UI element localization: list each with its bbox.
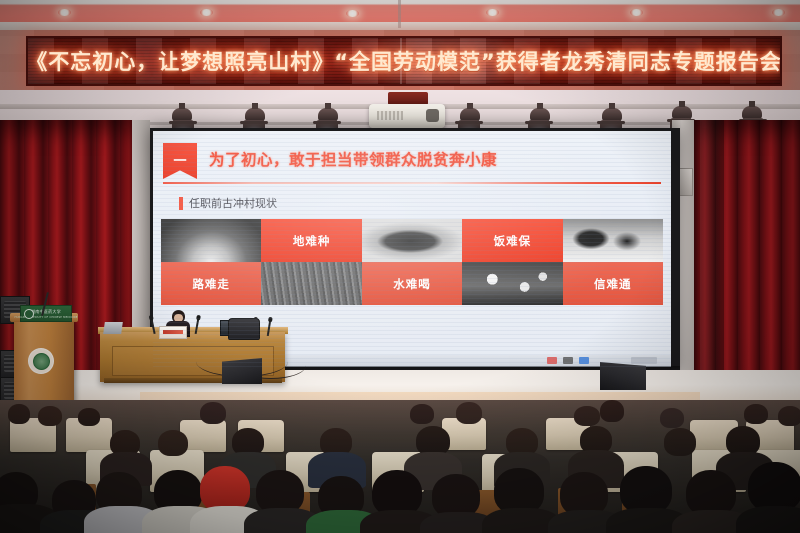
section-ribbon-marker: 一 bbox=[163, 143, 197, 179]
banner-panel-seam bbox=[400, 38, 402, 84]
stage-chair bbox=[228, 318, 260, 340]
auditorium-photo: 《不忘初心，让梦想照亮山村》“全国劳动模范”获得者龙秀清同志专题报告会 一 bbox=[0, 0, 800, 533]
ppt-icon-c bbox=[579, 357, 589, 364]
audience-head bbox=[600, 400, 624, 422]
audience-head bbox=[744, 404, 768, 424]
grid-cell-label: 饭难保 bbox=[462, 219, 562, 262]
water-buffalo-photo bbox=[563, 219, 663, 262]
audience-head bbox=[620, 466, 672, 514]
grid-cell-photo bbox=[362, 219, 462, 262]
subtitle-accent-bar bbox=[179, 197, 183, 210]
recessed-downlight-icon bbox=[58, 9, 71, 16]
recessed-downlight-icon bbox=[346, 10, 359, 17]
podium-sign-line1: 湖南中医药大学 bbox=[31, 309, 61, 315]
section-number: 一 bbox=[173, 150, 186, 169]
recessed-downlight-icon bbox=[772, 9, 785, 16]
recessed-downlight-icon bbox=[630, 9, 643, 16]
grid-cell-label: 信难通 bbox=[563, 262, 663, 305]
slide-title: 为了初心，敢于担当带领群众脱贫奔小康 bbox=[209, 148, 497, 170]
projector-lens bbox=[426, 109, 439, 122]
grid-cell-photo bbox=[563, 219, 663, 262]
ppt-icon-b bbox=[563, 357, 573, 364]
recessed-downlight-icon bbox=[486, 9, 499, 16]
led-banner: 《不忘初心，让梦想照亮山村》“全国劳动模范”获得者龙秀清同志专题报告会 bbox=[26, 36, 782, 86]
curtain-fold-right bbox=[700, 120, 724, 410]
floor-monitor-speaker-icon bbox=[600, 362, 646, 390]
university-emblem-icon bbox=[24, 309, 34, 319]
grid-label-5: 路难走 bbox=[192, 276, 230, 292]
ppt-icon-d bbox=[631, 357, 657, 364]
podium-logo bbox=[28, 348, 54, 374]
slide-title-rule bbox=[163, 182, 661, 184]
audience-head bbox=[8, 404, 30, 424]
audience-head bbox=[660, 408, 684, 428]
grid-label-9: 信难通 bbox=[594, 276, 632, 292]
audience-head bbox=[778, 406, 800, 426]
overgrown-field-photo bbox=[261, 262, 361, 305]
slide-photo-grid: 地难种 饭难保 路难走 水难喝 信难通 bbox=[161, 219, 663, 305]
villagers-gathering-photo bbox=[462, 262, 562, 305]
grid-cell-photo bbox=[261, 262, 361, 305]
grid-cell-label: 水难喝 bbox=[362, 262, 462, 305]
audience-head bbox=[78, 408, 100, 426]
recessed-downlight-icon bbox=[200, 9, 213, 16]
audience-shoulders bbox=[736, 506, 800, 533]
floor-monitor-speaker-icon bbox=[222, 358, 262, 384]
grid-cell-label: 地难种 bbox=[261, 219, 361, 262]
banner-title-text: 《不忘初心，让梦想照亮山村》“全国劳动模范”获得者龙秀清同志专题报告会 bbox=[26, 46, 782, 76]
audience-head bbox=[410, 404, 434, 424]
audience-head bbox=[158, 430, 188, 456]
ceiling bbox=[0, 0, 800, 30]
name-placard bbox=[159, 326, 187, 339]
grid-cell-label: 路难走 bbox=[161, 262, 261, 305]
grid-cell-photo bbox=[161, 219, 261, 262]
audience-head bbox=[38, 406, 62, 426]
audience-head bbox=[748, 462, 800, 512]
grid-label-3: 饭难保 bbox=[494, 233, 532, 249]
projector-vent bbox=[377, 111, 403, 120]
ceiling-seam bbox=[398, 0, 401, 28]
village-dirt-road-photo bbox=[161, 219, 261, 262]
muddy-pond-photo bbox=[362, 219, 462, 262]
laptop-on-table bbox=[103, 322, 123, 334]
audience-area bbox=[0, 400, 800, 533]
grid-cell-photo bbox=[462, 262, 562, 305]
audience-head bbox=[456, 402, 482, 424]
audience-head bbox=[664, 428, 696, 456]
grid-label-7: 水难喝 bbox=[393, 276, 431, 292]
slide-subtitle: 任职前古冲村现状 bbox=[189, 195, 277, 211]
audience-head bbox=[200, 402, 226, 424]
grid-label-1: 地难种 bbox=[293, 233, 331, 249]
audience-head bbox=[574, 406, 600, 426]
podium-nameplate: 湖南中医药大学 HUNAN UNIVERSITY OF CHINESE MEDI… bbox=[20, 305, 72, 322]
ppt-icon-a bbox=[547, 357, 557, 364]
projector-icon bbox=[369, 104, 445, 128]
